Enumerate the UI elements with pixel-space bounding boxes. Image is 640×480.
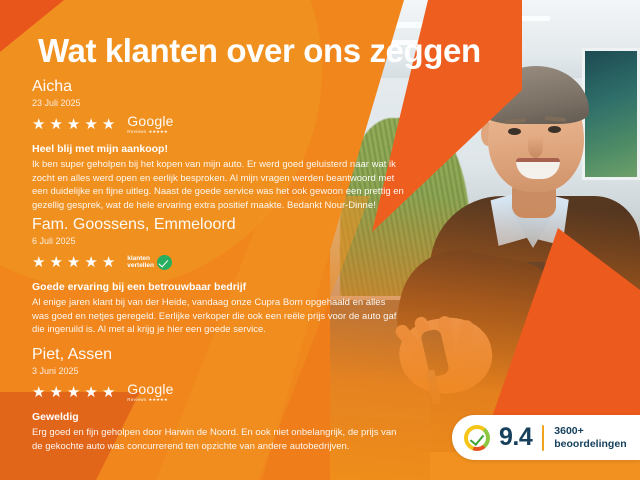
review-card: Fam. Goossens, Emmeloord 6 Juli 2025 ★ ★… bbox=[32, 216, 404, 337]
banner-content: Wat klanten over ons zeggen Aicha 23 Jul… bbox=[0, 0, 640, 480]
review-banner: VDH Wat klanten over ons zeggen Aicha 23… bbox=[0, 0, 640, 480]
star-icon: ★ bbox=[32, 255, 45, 270]
star-icon: ★ bbox=[32, 117, 45, 132]
klantenvertellen-line2: vertellen bbox=[127, 262, 154, 269]
reviewer-name: Piet, Assen bbox=[32, 346, 404, 364]
star-icon: ★ bbox=[67, 385, 80, 400]
google-reviews-badge[interactable]: Google Reviews ★★★★★ bbox=[127, 382, 173, 403]
google-wordmark: Google bbox=[127, 114, 173, 128]
review-count: 3600+ bbox=[554, 425, 584, 437]
review-title: Geweldig bbox=[32, 410, 404, 424]
star-icon: ★ bbox=[84, 255, 97, 270]
google-wordmark: Google bbox=[127, 382, 173, 396]
score-count-label: 3600+ beoordelingen bbox=[554, 425, 626, 451]
star-icon: ★ bbox=[84, 117, 97, 132]
review-rating-row: ★ ★ ★ ★ ★ Google Reviews ★★★★★ bbox=[32, 113, 404, 135]
star-rating: ★ ★ ★ ★ ★ bbox=[32, 255, 115, 270]
star-icon: ★ bbox=[32, 385, 45, 400]
google-reviews-sub: Reviews ★★★★★ bbox=[127, 130, 167, 135]
star-icon: ★ bbox=[84, 385, 97, 400]
review-card: Aicha 23 Juli 2025 ★ ★ ★ ★ ★ Google Revi… bbox=[32, 78, 404, 212]
google-reviews-label: Reviews bbox=[127, 398, 146, 403]
verified-check-icon bbox=[464, 425, 490, 451]
page-title: Wat klanten over ons zeggen bbox=[38, 32, 481, 70]
review-count-label: beoordelingen bbox=[554, 438, 626, 450]
reviewer-name: Fam. Goossens, Emmeloord bbox=[32, 216, 404, 234]
review-card: Piet, Assen 3 Juni 2025 ★ ★ ★ ★ ★ Google… bbox=[32, 346, 404, 453]
review-rating-row: ★ ★ ★ ★ ★ klanten vertellen bbox=[32, 251, 404, 273]
overall-score-badge[interactable]: 9.4 3600+ beoordelingen bbox=[452, 415, 640, 460]
check-circle-icon bbox=[157, 255, 172, 270]
star-icon: ★ bbox=[67, 255, 80, 270]
star-rating: ★ ★ ★ ★ ★ bbox=[32, 117, 115, 132]
star-icon: ★ bbox=[67, 117, 80, 132]
klantenvertellen-line1: klanten bbox=[127, 255, 150, 262]
google-reviews-sub: Reviews ★★★★★ bbox=[127, 398, 167, 403]
google-mini-stars: ★★★★★ bbox=[148, 130, 167, 135]
star-rating: ★ ★ ★ ★ ★ bbox=[32, 385, 115, 400]
review-title: Heel blij met mijn aankoop! bbox=[32, 142, 404, 156]
google-mini-stars: ★★★★★ bbox=[148, 398, 167, 403]
google-reviews-label: Reviews bbox=[127, 130, 146, 135]
star-icon: ★ bbox=[49, 117, 62, 132]
review-body: Al enige jaren klant bij van der Heide, … bbox=[32, 296, 404, 337]
klantenvertellen-badge[interactable]: klanten vertellen bbox=[127, 255, 172, 270]
review-date: 23 Juli 2025 bbox=[32, 97, 404, 110]
review-body: Erg goed en fijn geholpen door Harwin de… bbox=[32, 426, 404, 453]
klantenvertellen-wordmark: klanten vertellen bbox=[127, 255, 154, 270]
review-body: Ik ben super geholpen bij het kopen van … bbox=[32, 158, 404, 212]
google-reviews-badge[interactable]: Google Reviews ★★★★★ bbox=[127, 114, 173, 135]
star-icon: ★ bbox=[49, 255, 62, 270]
score-divider bbox=[542, 425, 544, 451]
star-icon: ★ bbox=[102, 385, 115, 400]
score-value: 9.4 bbox=[499, 425, 532, 450]
star-icon: ★ bbox=[102, 117, 115, 132]
star-icon: ★ bbox=[102, 255, 115, 270]
review-rating-row: ★ ★ ★ ★ ★ Google Reviews ★★★★★ bbox=[32, 381, 404, 403]
review-date: 3 Juni 2025 bbox=[32, 365, 404, 378]
review-title: Goede ervaring bij een betrouwbaar bedri… bbox=[32, 280, 404, 294]
star-icon: ★ bbox=[49, 385, 62, 400]
reviewer-name: Aicha bbox=[32, 78, 404, 96]
review-date: 6 Juli 2025 bbox=[32, 235, 404, 248]
